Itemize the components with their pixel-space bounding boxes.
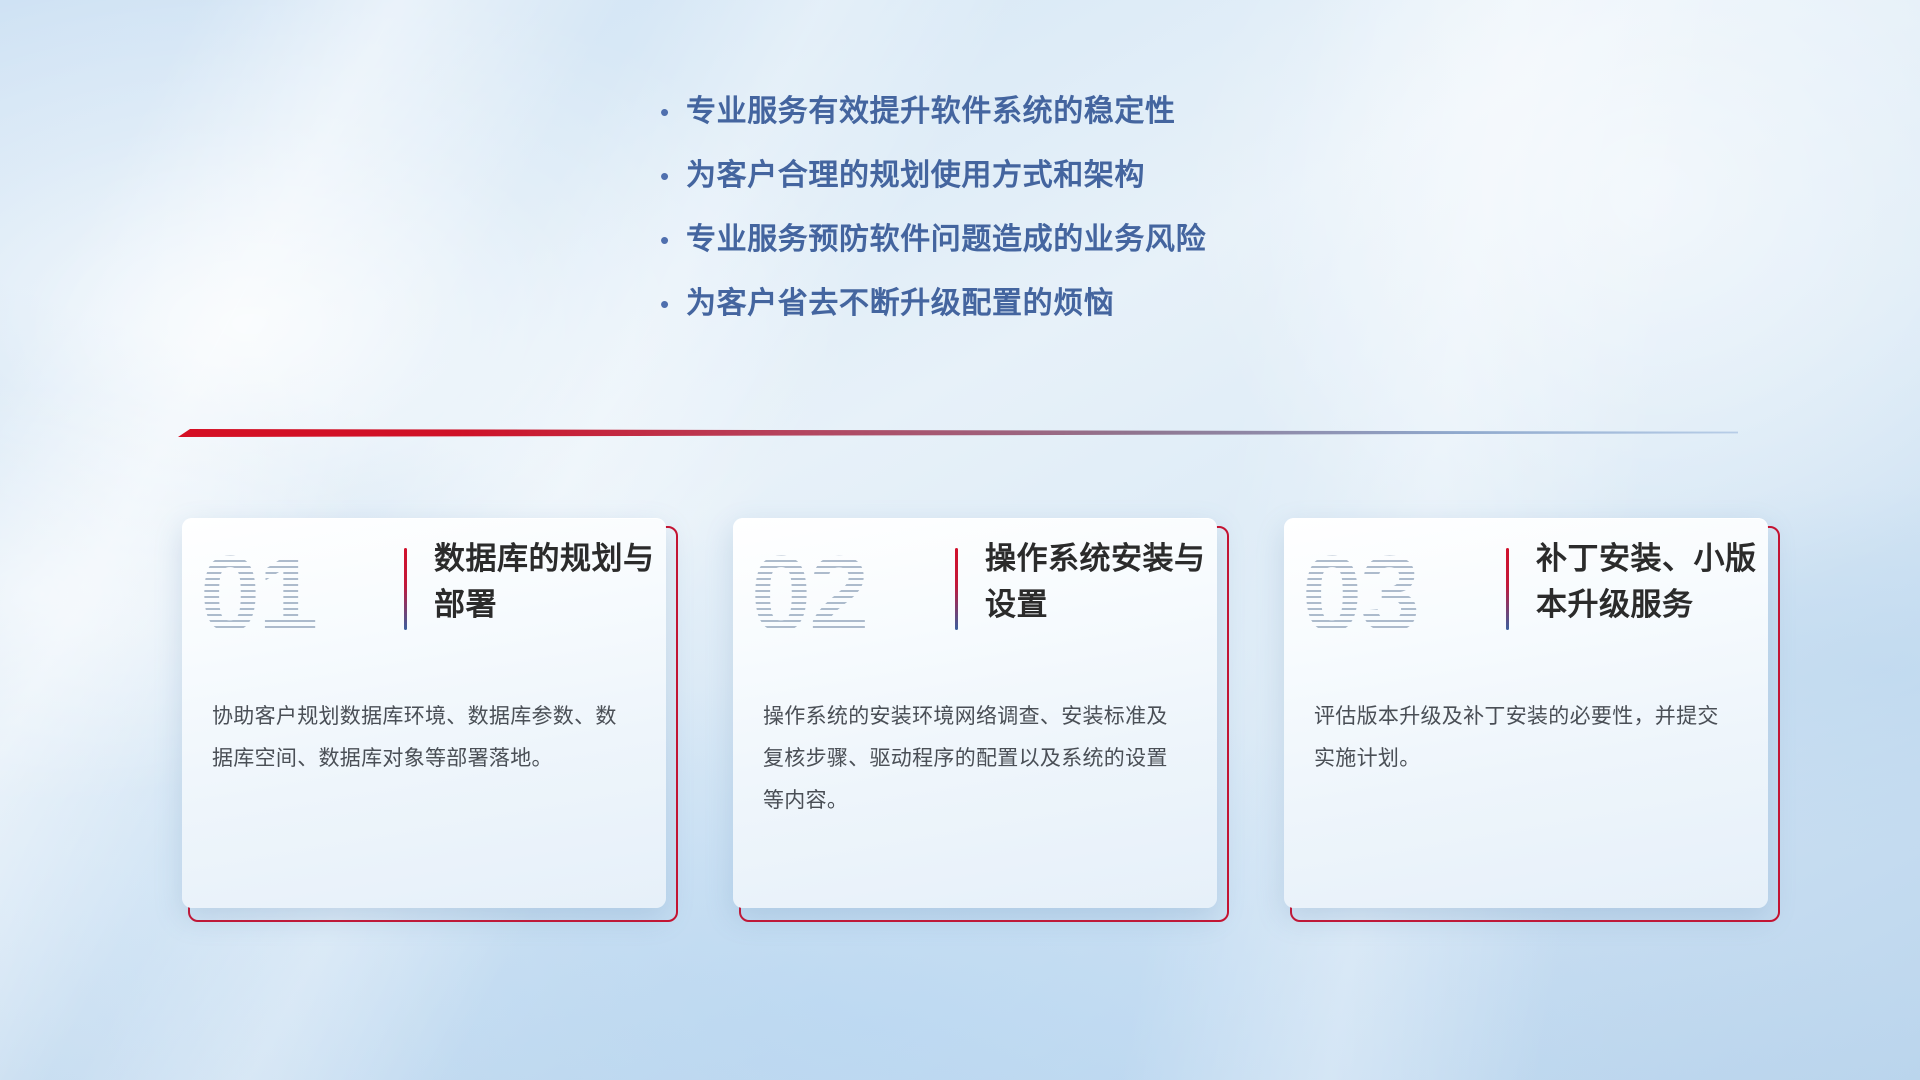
benefits-bullet-list: • 专业服务有效提升软件系统的稳定性 • 为客户合理的规划使用方式和架构 • 专…: [660, 92, 1420, 348]
bullet-marker-icon: •: [660, 156, 686, 196]
bullet-glyph: •: [660, 220, 669, 260]
card-description: 操作系统的安装环境网络调查、安装标准及复核步骤、驱动程序的配置以及系统的设置等内…: [763, 696, 1187, 822]
card-title: 补丁安装、小版本升级服务: [1536, 536, 1758, 628]
list-item: • 为客户省去不断升级配置的烦恼: [660, 284, 1420, 348]
service-card-row: 01 数据库的规划与部署 协助客户规划数据库环境、数据库参数、数据库空间、数据库…: [182, 518, 1774, 930]
section-divider: [178, 418, 1738, 448]
service-card[interactable]: 03 补丁安装、小版本升级服务 评估版本升级及补丁安装的必要性，并提交实施计划。: [1284, 518, 1774, 922]
card-panel: 02 操作系统安装与设置 操作系统的安装环境网络调查、安装标准及复核步骤、驱动程…: [733, 518, 1217, 908]
bullet-glyph: •: [660, 156, 669, 196]
bullet-text: 为客户省去不断升级配置的烦恼: [686, 284, 1114, 324]
list-item: • 专业服务有效提升软件系统的稳定性: [660, 92, 1420, 156]
card-header: 03 补丁安装、小版本升级服务: [1284, 518, 1768, 686]
card-description: 协助客户规划数据库环境、数据库参数、数据库空间、数据库对象等部署落地。: [212, 696, 636, 780]
card-number-watermark: 03: [1302, 524, 1482, 664]
card-number-watermark: 01: [200, 524, 380, 664]
bullet-glyph: •: [660, 284, 669, 324]
list-item: • 专业服务预防软件问题造成的业务风险: [660, 220, 1420, 284]
title-accent-bar: [404, 548, 407, 630]
bullet-marker-icon: •: [660, 284, 686, 324]
card-header: 02 操作系统安装与设置: [733, 518, 1217, 686]
card-panel: 01 数据库的规划与部署 协助客户规划数据库环境、数据库参数、数据库空间、数据库…: [182, 518, 666, 908]
card-number-watermark: 02: [751, 524, 931, 664]
card-number-text: 02: [751, 524, 867, 664]
bullet-text: 专业服务预防软件问题造成的业务风险: [686, 220, 1206, 260]
bullet-marker-icon: •: [660, 92, 686, 132]
service-card[interactable]: 01 数据库的规划与部署 协助客户规划数据库环境、数据库参数、数据库空间、数据库…: [182, 518, 672, 922]
service-card[interactable]: 02 操作系统安装与设置 操作系统的安装环境网络调查、安装标准及复核步骤、驱动程…: [733, 518, 1223, 922]
bullet-text: 专业服务有效提升软件系统的稳定性: [686, 92, 1176, 132]
bullet-marker-icon: •: [660, 220, 686, 260]
card-number-text: 01: [200, 524, 316, 664]
bullet-text: 为客户合理的规划使用方式和架构: [686, 156, 1145, 196]
card-number-text: 03: [1302, 524, 1418, 664]
card-description: 评估版本升级及补丁安装的必要性，并提交实施计划。: [1314, 696, 1738, 780]
list-item: • 为客户合理的规划使用方式和架构: [660, 156, 1420, 220]
card-header: 01 数据库的规划与部署: [182, 518, 666, 686]
card-title: 操作系统安装与设置: [985, 536, 1207, 628]
slide-canvas: • 专业服务有效提升软件系统的稳定性 • 为客户合理的规划使用方式和架构 • 专…: [0, 0, 1920, 1080]
card-panel: 03 补丁安装、小版本升级服务 评估版本升级及补丁安装的必要性，并提交实施计划。: [1284, 518, 1768, 908]
bullet-glyph: •: [660, 92, 669, 132]
title-accent-bar: [1506, 548, 1509, 630]
title-accent-bar: [955, 548, 958, 630]
card-title: 数据库的规划与部署: [434, 536, 656, 628]
divider-shape: [178, 418, 1738, 448]
